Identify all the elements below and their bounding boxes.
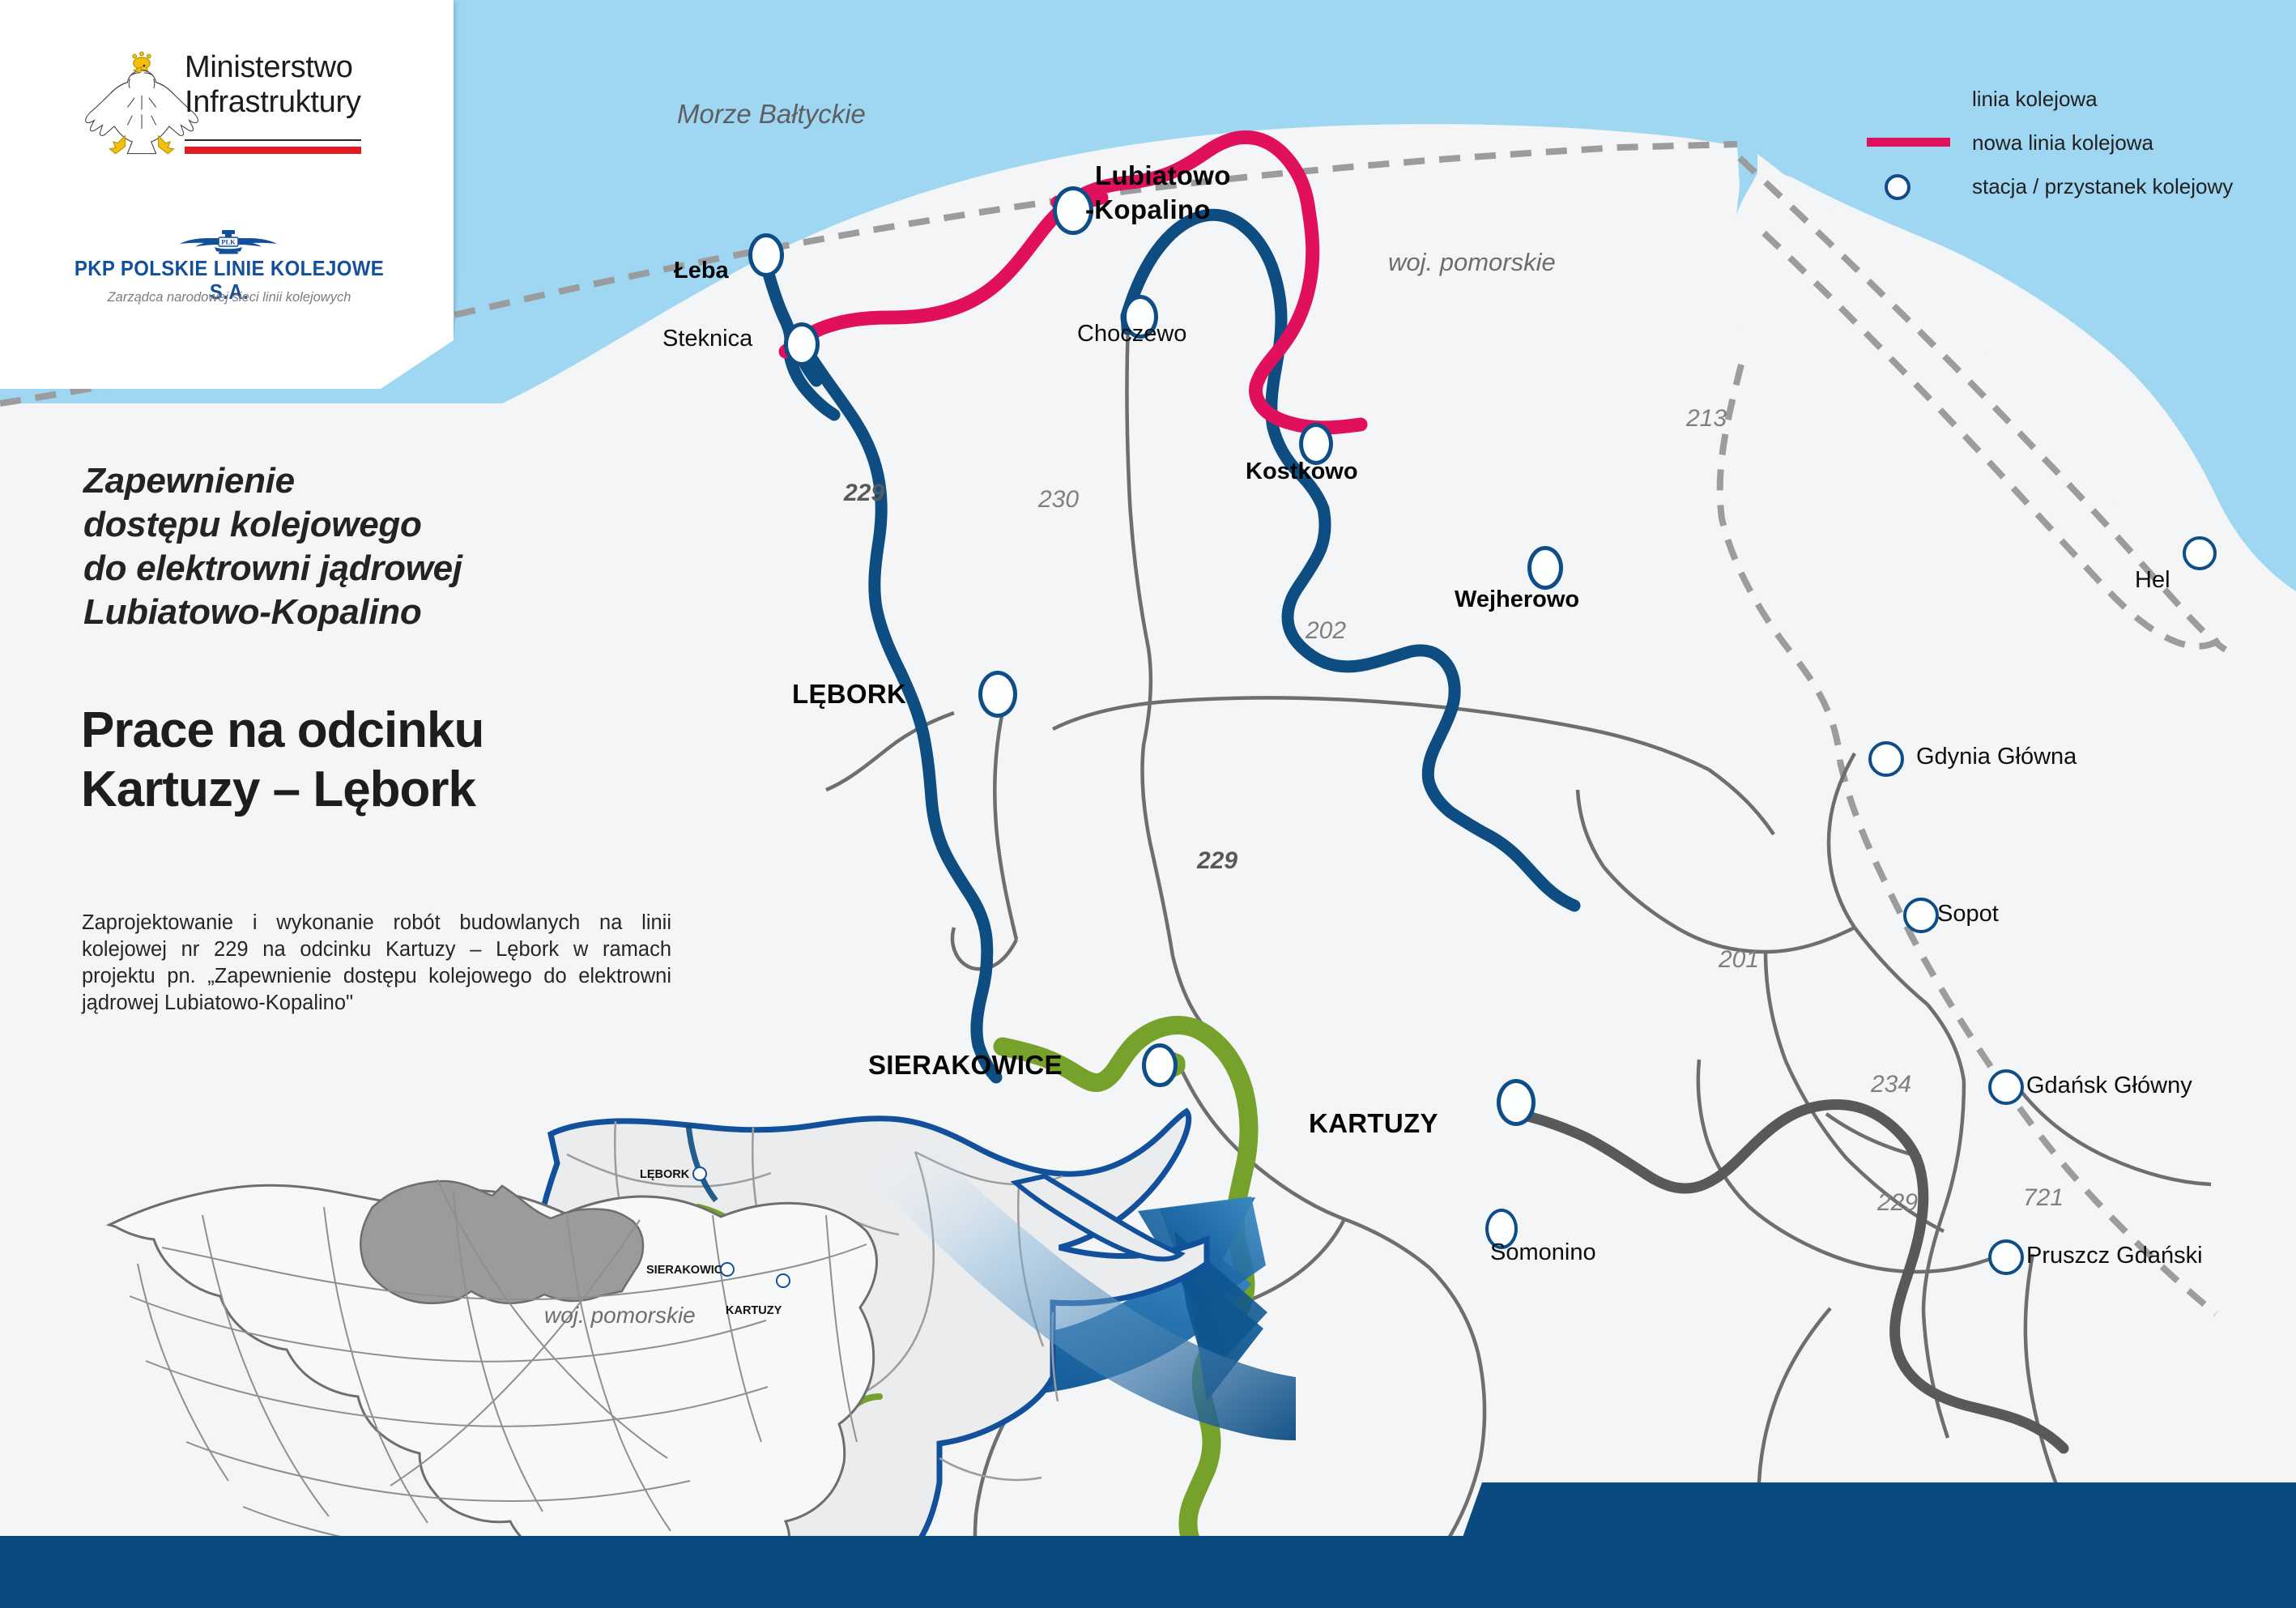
logo-card-content: Ministerstwo Infrastruktury PLK PKP POLS… bbox=[0, 0, 454, 389]
inset-station-dot-lebork[interactable] bbox=[692, 1167, 707, 1181]
station-label-somonino: Somonino bbox=[1490, 1239, 1596, 1266]
inset-label-kartuzy: KARTUZY bbox=[726, 1304, 782, 1317]
station-dot-gdansk-glowny[interactable] bbox=[1988, 1069, 2024, 1105]
page-title-line-2: Kartuzy – Lębork bbox=[81, 760, 729, 819]
ministry-line-2: Infrastruktury bbox=[185, 85, 420, 120]
line-number-234: 234 bbox=[1871, 1071, 1911, 1098]
ministry-line-1: Ministerstwo bbox=[185, 50, 420, 85]
station-dot-sierakowice[interactable] bbox=[1142, 1043, 1178, 1087]
project-description: Zaprojektowanie i wykonanie robót budowl… bbox=[82, 910, 671, 1017]
station-label-leba: Łeba bbox=[674, 258, 729, 284]
line-number-201: 201 bbox=[1719, 946, 1759, 974]
line-number-721: 721 bbox=[2023, 1184, 2064, 1212]
line-number-213: 213 bbox=[1686, 405, 1727, 433]
station-dot-kartuzy[interactable] bbox=[1497, 1079, 1536, 1126]
station-label-sierakowice: SIERAKOWICE bbox=[868, 1050, 1063, 1081]
inset-label-region: woj. pomorskie bbox=[544, 1303, 696, 1329]
map-legend: linia kolejowa nowa linia kolejowa stacj… bbox=[1867, 77, 2233, 208]
station-dot-hel[interactable] bbox=[2183, 536, 2217, 570]
station-label-hel: Hel bbox=[2135, 567, 2170, 594]
station-label-choczewo: Choczewo bbox=[1077, 321, 1186, 348]
line-number-229-middle: 229 bbox=[1197, 847, 1237, 875]
ministry-rule-red bbox=[185, 147, 361, 154]
legend-item-existing-line: linia kolejowa bbox=[1867, 77, 2233, 121]
line-number-229-north: 229 bbox=[844, 480, 884, 507]
station-dot-wejherowo[interactable] bbox=[1527, 546, 1563, 590]
legend-item-station: stacja / przystanek kolejowy bbox=[1867, 164, 2233, 208]
ministry-name: Ministerstwo Infrastruktury bbox=[185, 50, 420, 119]
legend-label-station: stacja / przystanek kolejowy bbox=[1972, 174, 2233, 199]
label-region-pomorskie: woj. pomorskie bbox=[1388, 248, 1556, 277]
subtitle-line-3: do elektrowni jądrowej bbox=[83, 547, 699, 591]
page-title-line-1: Prace na odcinku bbox=[81, 701, 729, 760]
subtitle-line-2: dostępu kolejowego bbox=[83, 503, 699, 547]
legend-key-existing-line-icon bbox=[1867, 77, 1972, 121]
station-label-sopot: Sopot bbox=[1937, 901, 1999, 928]
subtitle-line-1: Zapewnienie bbox=[83, 459, 699, 503]
legend-label-new-line: nowa linia kolejowa bbox=[1972, 130, 2153, 156]
infographic-map: Ministerstwo Infrastruktury PLK PKP POLS… bbox=[0, 0, 2296, 1608]
station-label-lebork: LĘBORK bbox=[792, 679, 906, 710]
subtitle-block: Zapewnienie dostępu kolejowego do elektr… bbox=[83, 459, 699, 634]
station-label-gdynia-glowna: Gdynia Główna bbox=[1916, 744, 2077, 770]
station-label-kostkowo: Kostkowo bbox=[1246, 459, 1358, 485]
line-number-229-south: 229 bbox=[1877, 1189, 1918, 1217]
station-label-pruszcz-gdanski: Pruszcz Gdański bbox=[2026, 1243, 2203, 1269]
station-label-kopalino: -Kopalino bbox=[1085, 194, 1211, 225]
legend-key-station-circle-icon bbox=[1867, 164, 1972, 208]
station-dot-steknica[interactable] bbox=[784, 322, 820, 366]
station-label-kartuzy: KARTUZY bbox=[1309, 1108, 1438, 1139]
station-label-steknica: Steknica bbox=[662, 326, 752, 352]
station-label-gdansk-glowny: Gdańsk Główny bbox=[2026, 1073, 2192, 1099]
inset-label-sierakowice: SIERAKOWICE bbox=[646, 1264, 731, 1277]
inset-station-dot-kartuzy[interactable] bbox=[776, 1273, 790, 1288]
page-title: Prace na odcinku Kartuzy – Lębork bbox=[81, 701, 729, 819]
station-label-wejherowo: Wejherowo bbox=[1455, 586, 1579, 613]
station-dot-lebork[interactable] bbox=[978, 671, 1017, 718]
label-baltic-sea: Morze Bałtyckie bbox=[677, 99, 866, 130]
station-dot-pruszcz-gdanski[interactable] bbox=[1988, 1239, 2024, 1275]
line-number-230: 230 bbox=[1038, 486, 1079, 514]
line-number-202: 202 bbox=[1306, 617, 1346, 645]
inset-label-lebork: LĘBORK bbox=[640, 1168, 689, 1181]
ministry-rule-dark bbox=[185, 139, 361, 141]
subtitle-line-4: Lubiatowo-Kopalino bbox=[83, 591, 699, 634]
svg-text:PLK: PLK bbox=[221, 238, 236, 246]
station-dot-leba[interactable] bbox=[748, 233, 784, 277]
station-dot-sopot[interactable] bbox=[1903, 898, 1939, 933]
legend-item-new-line: nowa linia kolejowa bbox=[1867, 121, 2233, 164]
plk-winged-wheel-icon: PLK bbox=[180, 228, 277, 256]
inset-station-dot-sierakowice[interactable] bbox=[720, 1262, 735, 1277]
plk-subtitle: Zarządca narodowej sieci linii kolejowyc… bbox=[47, 290, 411, 305]
legend-label-existing-line: linia kolejowa bbox=[1972, 87, 2098, 112]
station-dot-gdynia-glowna[interactable] bbox=[1868, 741, 1904, 777]
legend-key-new-line-icon bbox=[1867, 121, 1972, 164]
station-label-lubiatowo: Lubiatowo bbox=[1095, 160, 1231, 191]
